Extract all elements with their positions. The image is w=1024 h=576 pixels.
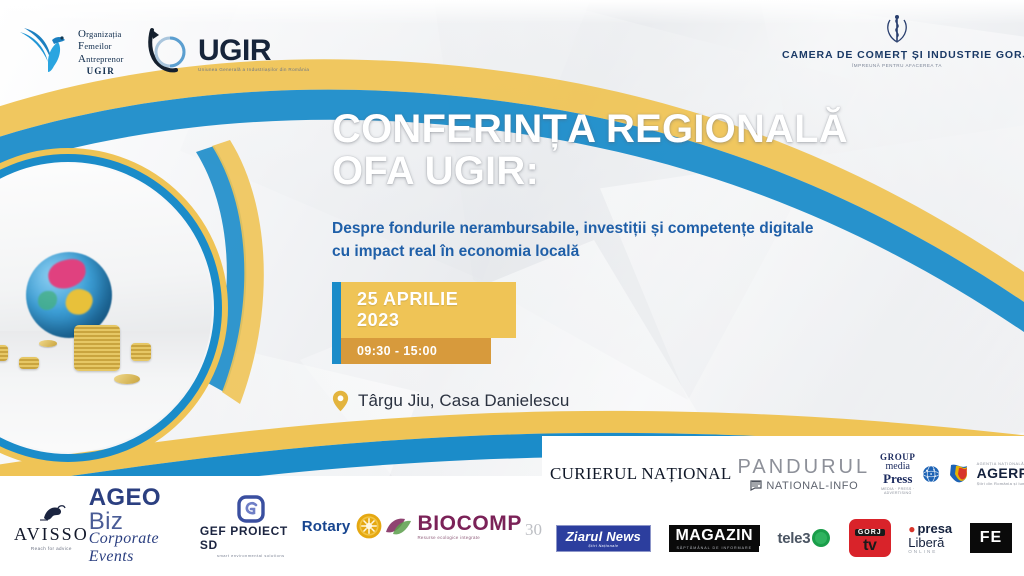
ageo-wordmark: AGEO Biz [89,486,200,534]
media-pandurul-group: PANDURUL NATIONAL-INFO [738,456,871,492]
magazin-wordmark: MAGAZIN [669,525,760,546]
ccig-tagline: ÎMPREUNĂ PENTRU AFACEREA TA [782,63,1012,68]
media-curierul-national: CURIERUL NAȚIONAL [550,464,732,484]
curierul-wordmark: CURIERUL NAȚIONAL [550,464,732,484]
caduceus-crest-icon [882,14,912,46]
sponsor-ageo-biz: AGEO Biz Corporate Events [89,486,200,566]
gorj-tv-line1: GORJ [855,529,885,536]
map-pin-icon [332,390,349,412]
event-date-badge: 25 APRILIE 2023 [341,282,516,338]
agerpres-wordmark: AGERPRES [977,466,1024,481]
media-group-media-press: GROUP media Press MEDIA · PRESS · ADVERT… [876,453,941,495]
sponsor-avisso: AVISSO Reach for advice [14,502,89,551]
ofa-ugir-logo: Organizația Femeilor Antreprenor UGIR [18,26,124,78]
presa-line2: Liberă [908,536,944,550]
sponsor-gef-proiect: GEF PROIECT SD smart environmental solut… [200,494,302,558]
coin-stack [19,357,39,369]
coin-stack [0,345,8,361]
gorj-tv-badge: GORJ tv [849,519,891,557]
biocomp-anniversary: 30 [525,520,542,540]
gef-g-logo-icon [236,494,266,524]
ziarul-tagline: Știri Naționale [566,544,641,548]
event-location: Târgu Jiu, Casa Danielescu [332,390,972,412]
national-info-wordmark: NATIONAL-INFO [766,480,858,492]
ugir-swirl-icon [142,26,194,80]
event-time-badge: 09:30 - 15:00 [341,338,491,364]
media-partner-logos: CURIERUL NAȚIONAL PANDURUL NATIONAL-INFO… [542,436,1024,576]
magazin-tagline: SĂPTĂMÂNAL DE INFORMARE [669,546,759,552]
presa-line1: presa [917,522,952,535]
avisso-wordmark: AVISSO [14,524,89,545]
event-datetime: 25 APRILIE 2023 09:30 - 15:00 [332,282,972,364]
event-subtitle: Despre fondurile nerambursabile, investi… [332,217,972,264]
avisso-tagline: Reach for advice [31,546,72,551]
ageo-tagline: Corporate Events [89,530,200,566]
gmp-line3: Press [876,472,919,485]
ugir-tagline: Uniunea Generală a Industriașilor din Ro… [198,67,309,72]
gorj-tv-line2: tv [855,539,885,554]
ccig-name: CAMERA DE COMERȚ ȘI INDUSTRIE GORJ [782,49,1012,61]
rotary-wheel-icon [355,512,383,540]
media-agerpres: AGENȚIA NAȚIONALĂ DE PRESĂ AGERPRES Știr… [947,461,1024,487]
avisso-emblem-icon [34,502,68,524]
event-subtitle-line2: cu impact real în economia locală [332,240,972,264]
event-poster: Organizația Femeilor Antreprenor UGIR UG… [0,0,1024,576]
tele3-icon [811,528,831,548]
media-tele3: tele3 [778,528,832,548]
media-fe: FE [970,523,1012,553]
event-location-text: Târgu Jiu, Casa Danielescu [358,391,569,411]
hero-circle-image [0,148,228,468]
ziarul-news-badge: Ziarul News Știri Naționale [556,525,651,552]
media-ziarul-news: Ziarul News Știri Naționale [556,525,651,552]
presa-line3: ONLINE [908,549,937,554]
media-row-bottom: Ziarul News Știri Naționale MAGAZIN SĂPT… [550,506,1018,570]
agerpres-tagline: Știri din România și lume [977,481,1024,486]
ofa-logo-ugir: UGIR [78,66,124,76]
rotary-wordmark: Rotary [302,518,351,535]
main-content: CONFERINȚA REGIONALĂ OFA UGIR: Despre fo… [332,108,972,412]
media-row-top: CURIERUL NAȚIONAL PANDURUL NATIONAL-INFO… [550,442,1018,506]
datetime-accent-bar [332,282,341,364]
ugir-logo: UGIR Uniunea Generală a Industriașilor d… [142,26,309,80]
national-info-flag-icon [749,479,763,492]
sponsor-biocomp: BIOCOMP Resurse ecologice integrate 30 [383,512,542,540]
gef-wordmark: GEF PROIECT SD [200,524,302,552]
biocomp-wordmark: BIOCOMP [417,513,522,534]
agerpres-flag-icon [947,461,973,487]
event-subtitle-line1: Despre fondurile nerambursabile, investi… [332,217,972,241]
media-presa-libera: ● presa Liberă ONLINE [908,522,952,555]
tele3-wordmark: tele3 [778,530,811,547]
sponsor-logos-left: AVISSO Reach for advice AGEO Biz Corpora… [0,476,556,576]
bird-wing-icon [18,26,72,78]
event-title-line2: OFA UGIR: [332,150,972,192]
event-title-line1: CONFERINȚA REGIONALĂ [332,108,972,150]
ofa-logo-text: Organizația Femeilor Antreprenor UGIR [78,28,124,76]
ccig-logo: CAMERA DE COMERȚ ȘI INDUSTRIE GORJ ÎMPRE… [782,14,1012,68]
gmp-tagline: MEDIA · PRESS · ADVERTISING [876,487,919,495]
ugir-logo-text: UGIR Uniunea Generală a Industriașilor d… [198,37,309,72]
biocomp-tagline: Resurse ecologice integrate [417,535,522,540]
coin-stack [74,325,120,371]
sponsor-rotary: Rotary [302,512,384,540]
ugir-wordmark: UGIR [198,37,309,64]
biocomp-leaf-icon [383,512,413,540]
coin-stack [131,343,151,361]
media-magazin: MAGAZIN SĂPTĂMÂNAL DE INFORMARE [669,525,760,552]
event-title: CONFERINȚA REGIONALĂ OFA UGIR: [332,108,972,193]
fe-wordmark: FE [970,523,1012,553]
ageo-name: AGEO [89,484,161,511]
press-globe-icon [922,461,940,487]
media-gorj-tv: GORJ tv [849,519,891,557]
coin [39,340,57,347]
gef-tagline: smart environmental solutions [217,553,285,558]
ziarul-wordmark: Ziarul News [566,529,641,544]
pandurul-wordmark: PANDURUL [738,456,871,479]
